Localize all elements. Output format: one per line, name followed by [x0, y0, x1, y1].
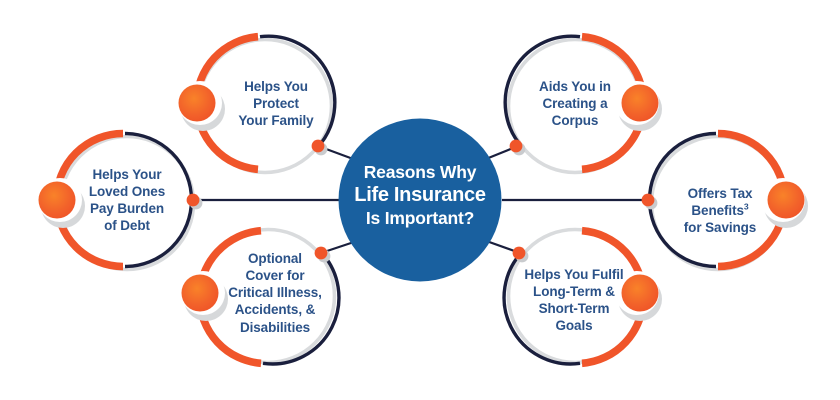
node-ring-loved-ones-debt	[38, 134, 202, 270]
center-title-line-3: Is Important?	[330, 208, 510, 229]
life-insurance-reasons-infographic: Reasons Why Life Insurance Is Important?…	[0, 0, 840, 400]
junction-dot	[312, 140, 325, 153]
junction-dot	[187, 194, 200, 207]
node-ring-tax-benefits	[642, 134, 808, 270]
node-dot	[179, 85, 216, 122]
arc-navy	[125, 134, 192, 267]
node-dot	[768, 182, 805, 219]
node-ring-creating-corpus	[505, 36, 662, 172]
node-ring-fulfil-goals	[504, 230, 662, 364]
junction-dot	[513, 247, 526, 260]
junction-dot	[510, 140, 523, 153]
arc-navy	[260, 36, 335, 148]
junction-dot	[642, 194, 655, 207]
node-ring-protect-family	[178, 36, 335, 172]
node-dot	[622, 275, 659, 312]
arc-navy	[505, 36, 580, 148]
node-dot	[182, 275, 219, 312]
junction-dot	[315, 247, 328, 260]
node-ring-optional-cover	[181, 230, 339, 364]
node-dot	[622, 85, 659, 122]
arc-navy	[650, 134, 717, 267]
center-title-line-1: Reasons Why	[330, 162, 510, 183]
center-hub-title: Reasons Why Life Insurance Is Important?	[330, 162, 510, 229]
node-dot	[39, 182, 76, 219]
center-title-line-2: Life Insurance	[330, 183, 510, 207]
